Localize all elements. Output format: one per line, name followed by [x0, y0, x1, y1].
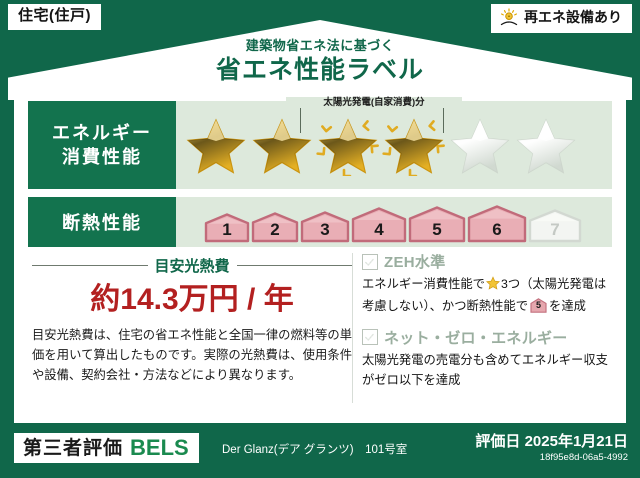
- title-main: 省エネ性能ラベル: [0, 55, 640, 86]
- insulation-level-number: 6: [467, 220, 527, 240]
- insulation-level-number: 5: [408, 220, 466, 240]
- criterion-net-zero-title: ネット・ゼロ・エネルギー: [384, 327, 568, 348]
- criterion-zeh-text-after: を達成: [549, 299, 586, 313]
- heading-rule-right: [237, 265, 353, 267]
- insulation-performance-label-box: 断熱性能: [28, 197, 176, 247]
- criterion-zeh-head: ZEH水準: [362, 251, 612, 272]
- solar-bracket-label: 太陽光発電(自家消費)分: [286, 97, 462, 108]
- insulation-level-number: 2: [251, 220, 299, 240]
- footer-band: 第三者評価 BELS Der Glanz(デア グランツ) 101号室 評価日 …: [0, 424, 640, 478]
- bels-en-label: BELS: [130, 437, 189, 459]
- label-card: エネルギー 消費性能: [14, 93, 626, 423]
- criterion-net-zero-head: ネット・ゼロ・エネルギー: [362, 327, 612, 348]
- criterion-zeh-star-count: 3つ: [501, 277, 520, 291]
- building-name: Der Glanz(デア グランツ) 101号室: [222, 444, 407, 457]
- badge-building-type: 住宅(住戸): [8, 4, 101, 30]
- star-empty: [514, 114, 578, 176]
- star-empty: [448, 114, 512, 176]
- evaluation-date: 評価日 2025年1月21日: [475, 433, 628, 451]
- criterion-zeh-text-before: エネルギー消費性能で: [362, 277, 485, 291]
- unchecked-checkbox-icon: [362, 329, 378, 345]
- inline-house-badge-icon: 5: [530, 298, 547, 313]
- criterion-zeh-text: エネルギー消費性能で3つ（太陽光発電は考慮しない）、かつ断熱性能で5を達成: [362, 275, 612, 317]
- insulation-level-scale: 1 2 3 4 5 6: [176, 197, 612, 247]
- bels-jp-label: 第三者評価: [23, 439, 123, 458]
- utility-cost-heading-text: 目安光熱費: [155, 255, 230, 276]
- heading-rule-left: [32, 265, 148, 267]
- insulation-level-filled: 6: [467, 205, 527, 243]
- title-subtitle: 建築物省エネ法に基づく: [0, 38, 640, 54]
- insulation-level-filled: 4: [351, 207, 407, 243]
- bels-logo: 第三者評価 BELS: [14, 433, 199, 463]
- insulation-level-number: 3: [300, 220, 350, 240]
- insulation-level-number: 4: [351, 220, 407, 240]
- insulation-level-filled: 2: [251, 212, 299, 243]
- utility-cost-heading: 目安光熱費: [32, 255, 352, 276]
- energy-performance-label: 建築物省エネ法に基づく 省エネ性能ラベル 住宅(住戸) 再エネ設備あり: [0, 0, 640, 478]
- insulation-level-filled: 5: [408, 206, 466, 243]
- energy-stars-panel: 太陽光発電(自家消費)分: [176, 101, 612, 189]
- criterion-net-zero: ネット・ゼロ・エネルギー 太陽光発電の売電分も含めてエネルギー収支がゼロ以下を達…: [362, 327, 612, 391]
- unchecked-checkbox-icon: [362, 254, 378, 270]
- energy-performance-row: エネルギー 消費性能: [28, 101, 612, 189]
- insulation-level-empty: 7: [528, 209, 582, 243]
- criterion-net-zero-text: 太陽光発電の売電分も含めてエネルギー収支がゼロ以下を達成: [362, 351, 612, 391]
- badge-renewable-label: 再エネ設備あり: [524, 10, 622, 25]
- column-divider: [352, 253, 353, 403]
- energy-label-line2: 消費性能: [62, 145, 142, 169]
- criteria-section: ZEH水準 エネルギー消費性能で3つ（太陽光発電は考慮しない）、かつ断熱性能で5…: [362, 251, 612, 401]
- insulation-levels-panel: 1 2 3 4 5 6: [176, 197, 612, 247]
- insulation-level-number: 7: [528, 220, 582, 240]
- evaluation-info: 評価日 2025年1月21日 18f95e8d-06a5-4992: [475, 433, 628, 464]
- criterion-zeh-title: ZEH水準: [384, 251, 446, 272]
- badge-renewable-equipment: 再エネ設備あり: [491, 4, 632, 33]
- utility-cost-note: 目安光熱費は、住宅の省エネ性能と全国一律の燃料等の単価を用いて算出したものです。…: [32, 326, 352, 386]
- energy-performance-label-box: エネルギー 消費性能: [28, 101, 176, 189]
- insulation-performance-row: 断熱性能 1 2 3 4: [28, 197, 612, 247]
- energy-label-line1: エネルギー: [52, 121, 152, 145]
- star-filled: [184, 114, 248, 176]
- evaluation-id: 18f95e8d-06a5-4992: [475, 452, 628, 464]
- utility-cost-value: 約14.3万円 / 年: [32, 283, 352, 316]
- sun-icon: [499, 8, 519, 28]
- insulation-level-number: 1: [204, 220, 250, 240]
- inline-star-icon: [486, 276, 500, 297]
- insulation-level-filled: 3: [300, 211, 350, 243]
- insulation-level-filled: 1: [204, 213, 250, 243]
- utility-cost-section: 目安光熱費 約14.3万円 / 年 目安光熱費は、住宅の省エネ性能と全国一律の燃…: [32, 255, 352, 386]
- criterion-zeh: ZEH水準 エネルギー消費性能で3つ（太陽光発電は考慮しない）、かつ断熱性能で5…: [362, 251, 612, 317]
- label-title-block: 建築物省エネ法に基づく 省エネ性能ラベル: [0, 38, 640, 86]
- inline-house-level: 5: [530, 298, 547, 313]
- solar-bracket: [300, 107, 444, 133]
